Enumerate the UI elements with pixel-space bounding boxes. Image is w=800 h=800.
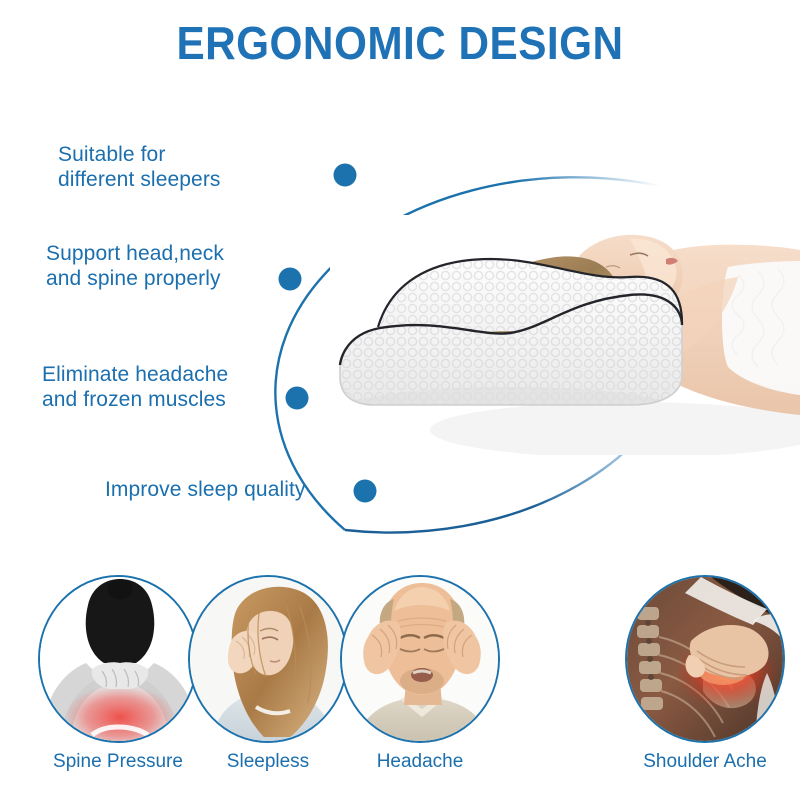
headache-photo [342, 577, 500, 743]
problem-card-sleepless[interactable]: Sleepless [188, 575, 348, 773]
problem-image-ring-spine-pressure [38, 575, 198, 743]
problem-card-headache[interactable]: Headache [340, 575, 500, 773]
feature-label-support-spine: Support head,neck and spine properly [46, 241, 224, 291]
feature-label-improve-sleep: Improve sleep quality [105, 477, 306, 502]
problem-card-spine-pressure[interactable]: Spine Pressure [38, 575, 198, 773]
arc-dot-2[interactable] [279, 268, 302, 291]
arc-dot-3[interactable] [286, 387, 309, 410]
feature-label-eliminate-headache: Eliminate headache and frozen muscles [42, 362, 228, 412]
problem-image-ring-shoulder-ache [625, 575, 785, 743]
problem-caption-spine-pressure: Spine Pressure [38, 751, 198, 773]
hero-pillow-photo [330, 215, 800, 455]
problem-caption-sleepless: Sleepless [188, 751, 348, 773]
problem-caption-shoulder-ache: Shoulder Ache [625, 751, 785, 773]
arc-dot-4[interactable] [354, 480, 377, 503]
feature-label-suitable-sleepers: Suitable for different sleepers [58, 142, 221, 192]
sleepless-photo [190, 577, 348, 743]
spine-pressure-photo [40, 577, 198, 743]
problem-image-ring-headache [340, 575, 500, 743]
problem-caption-headache: Headache [340, 751, 500, 773]
shoulder-ache-photo [627, 577, 785, 743]
problem-cards-row: Spine Pressure [0, 575, 800, 800]
arc-dot-1[interactable] [334, 164, 357, 187]
infographic-page: ERGONOMIC DESIGN Suitable for [0, 0, 800, 800]
problem-card-shoulder-ache[interactable]: Shoulder Ache [625, 575, 785, 773]
problem-image-ring-sleepless [188, 575, 348, 743]
